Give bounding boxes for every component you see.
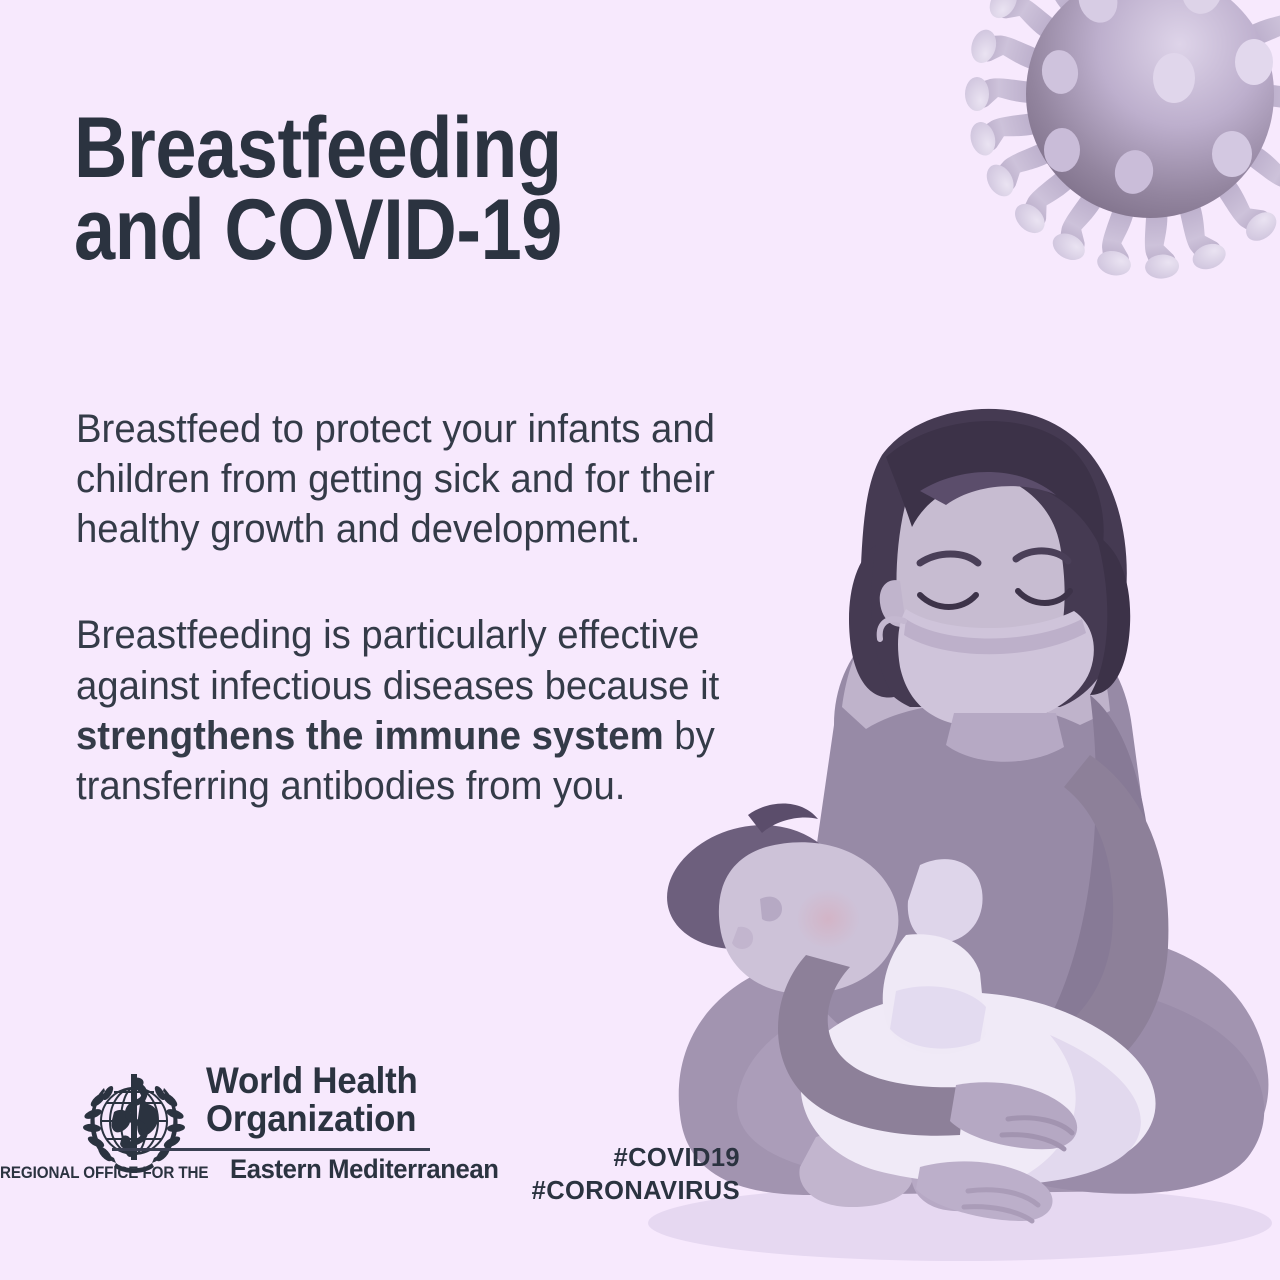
coronavirus-illustration (902, 0, 1280, 352)
regional-office-name: Eastern Mediterranean (230, 1154, 499, 1185)
who-logo: World Health Organization (74, 1062, 434, 1207)
who-regional-office: REGIONAL OFFICE FOR THEEastern Mediterra… (0, 1154, 440, 1185)
paragraph-two-part-a: Breastfeeding is particularly effective … (76, 613, 719, 707)
who-logo-divider (112, 1148, 430, 1151)
who-wordmark-line-2: Organization (206, 1100, 488, 1138)
poster-canvas: Breastfeeding and COVID-19 Breastfeed to… (0, 0, 1280, 1280)
page-title: Breastfeeding and COVID-19 (74, 108, 693, 271)
who-wordmark: World Health Organization (206, 1062, 506, 1139)
regional-office-prefix: REGIONAL OFFICE FOR THE (0, 1164, 208, 1183)
who-wordmark-line-1: World Health (206, 1062, 488, 1100)
paragraph-two: Breastfeeding is particularly effective … (76, 610, 813, 811)
paragraph-one: Breastfeed to protect your infants and c… (76, 404, 813, 554)
paragraph-two-emphasis: strengthens the immune system (76, 714, 664, 758)
title-line-2: and COVID-19 (74, 190, 693, 272)
body-copy: Breastfeed to protect your infants and c… (76, 404, 813, 811)
